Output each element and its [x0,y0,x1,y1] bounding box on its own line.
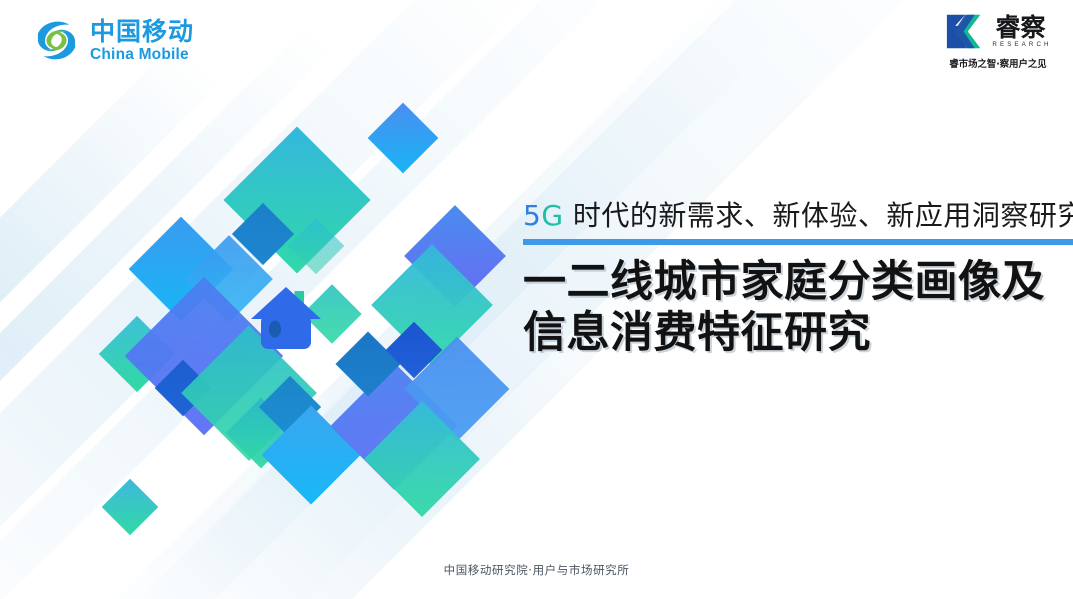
slide-root: 中国移动 China Mobile 睿察 RESEARCH 睿市场之智·察用户之… [0,0,1073,599]
diamond-shape [262,406,361,505]
china-mobile-cn-text: 中国移动 [90,19,194,44]
page-title-line-2: 信息消费特征研究 [523,308,1073,359]
diamond-shape [226,398,297,469]
title-divider-rule [523,239,1073,245]
diamond-shape [232,203,294,265]
ruicha-logo-top-row: 睿察 RESEARCH [939,12,1057,51]
diamond-shape [368,103,439,174]
background-band [0,39,221,599]
diamond-shape [259,376,321,438]
diamond-shape [155,360,212,417]
subtitle-G: G [541,199,563,232]
diamond-shape [404,205,506,307]
china-mobile-wordmark: 中国移动 China Mobile [90,18,194,63]
ruicha-tagline: 睿市场之智·察用户之见 [939,56,1057,70]
diamond-shape [330,362,457,489]
title-block: 5G 时代的新需求、新体验、新应用洞察研究 一二线城市家庭分类画像及 信息消费特… [523,198,1073,358]
diamond-shape [102,479,159,536]
diamond-shape [371,244,493,366]
house-icon [249,283,323,355]
diamond-shape [99,316,175,392]
china-mobile-en-text: China Mobile [90,47,194,63]
diamond-shape [386,322,443,379]
page-title: 一二线城市家庭分类画像及 信息消费特征研究 [523,257,1073,358]
footer-text: 中国移动研究院·用户与市场研究所 [0,562,1073,578]
diamond-shape [223,126,370,273]
ruicha-research-logo: 睿察 RESEARCH 睿市场之智·察用户之见 [939,12,1057,70]
ruicha-wordmark-en: RESEARCH [989,42,1051,48]
china-mobile-wave-logo-icon [32,17,81,64]
ruicha-wordmark: 睿察 RESEARCH [989,15,1051,48]
diamond-shape [335,331,400,396]
diamond-shape [364,401,480,517]
subtitle-5: 5 [523,199,541,232]
diamond-shape [288,218,345,275]
ruicha-wordmark-cn: 睿察 [989,15,1051,40]
slide-subtitle: 5G 时代的新需求、新体验、新应用洞察研究 [523,198,1073,233]
diamond-shape [129,217,234,322]
china-mobile-logo: 中国移动 China Mobile [32,17,194,64]
diamond-shape [405,337,510,442]
subtitle-rest: 时代的新需求、新体验、新应用洞察研究 [564,199,1073,232]
ruicha-r-chevron-logo-icon [944,12,986,51]
page-title-line-1: 一二线城市家庭分类画像及 [523,257,1073,308]
